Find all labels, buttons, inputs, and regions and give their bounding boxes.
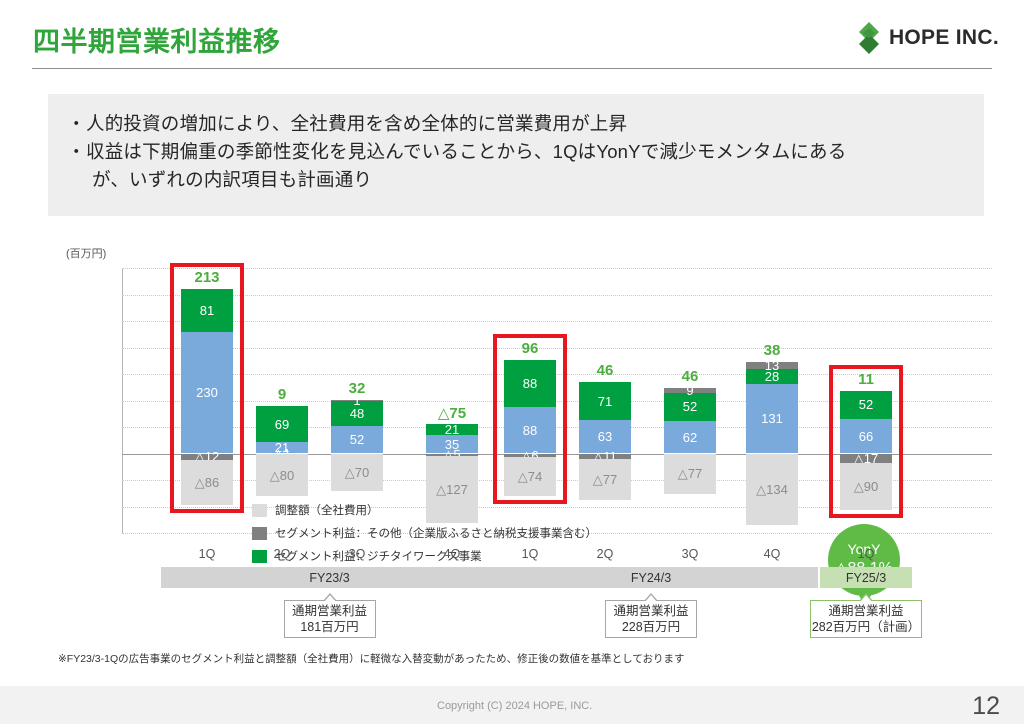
bar-segment-other: △17 (840, 454, 892, 463)
fiscal-year-band-FY25-3: FY25/3 (820, 567, 912, 588)
legend-label: セグメント利益：その他（企業版ふるさと納税支援事業含む） (275, 525, 597, 541)
bar-group[interactable]: 52481△7032 (331, 268, 383, 533)
bar-segment-label: 66 (859, 430, 873, 443)
message-line-2: 収益は下期偏重の季節性変化を見込んでいることから、1QはYonYで減少モメンタム… (70, 138, 962, 166)
bar-segment-label: △77 (678, 467, 702, 480)
bar-segment-other: 13 (746, 362, 798, 369)
bar-segment-advertising: 88 (504, 407, 556, 454)
y-axis-unit-label: (百万円) (66, 245, 106, 261)
bar-total-label: 46 (664, 368, 716, 385)
bar-total-label: 213 (181, 269, 233, 286)
x-axis-label: 4Q (426, 547, 478, 561)
callout-pointer (859, 593, 873, 601)
x-axis-label: 1Q (181, 547, 233, 561)
bar-segment-label: 62 (683, 431, 697, 444)
fiscal-year-band-FY24-3: FY24/3 (484, 567, 818, 588)
bar-total-label: 46 (579, 362, 631, 379)
message-line-3: が、いずれの内訳項目も計画通り (70, 166, 962, 194)
bar-segment-jichitai: 21 (426, 424, 478, 435)
bar-segment-label: 230 (196, 386, 218, 399)
legend-swatch-adjustment-icon (252, 504, 267, 517)
x-axis-label: 2Q (256, 547, 308, 561)
bar-segment-jichitai: 69 (256, 406, 308, 443)
slide-header: 四半期営業利益推移 HOPE INC. (0, 0, 1024, 72)
bar-segment-label: 9 (686, 384, 693, 397)
bar-segment-adjustment: △70 (331, 454, 383, 491)
callout-line-1: 通期営業利益 (613, 603, 688, 619)
bar-segment-label: △77 (593, 473, 617, 486)
page-title: 四半期営業利益推移 (33, 20, 281, 59)
summary-message-box: 人的投資の増加により、全社費用を含め全体的に営業費用が上昇 収益は下期偏重の季節… (48, 94, 984, 216)
bar-segment-label: 81 (200, 304, 214, 317)
page-number: 12 (972, 692, 1000, 721)
bar-total-label: 38 (746, 342, 798, 359)
bar-total-label: 9 (256, 386, 308, 403)
bar-group[interactable]: 8888△6△7496 (504, 268, 556, 533)
bar-group[interactable]: 6371△11△7746 (579, 268, 631, 533)
chart-plot-area: 350300250200150100500△50△100△150 23081△1… (122, 268, 992, 533)
logo-text: HOPE INC. (889, 26, 999, 50)
callout-line-2: 282百万円（計画） (812, 619, 920, 635)
bar-segment-label: 88 (523, 424, 537, 437)
bar-segment-label: 52 (859, 398, 873, 411)
bar-segment-jichitai: 81 (181, 289, 233, 332)
bar-segment-other: 1 (331, 400, 383, 401)
annual-profit-callout: 通期営業利益181百万円 (284, 600, 376, 638)
x-axis-label: 2Q (579, 547, 631, 561)
hope-diamond-logo-icon (856, 22, 882, 54)
message-line-1: 人的投資の増加により、全社費用を含め全体的に営業費用が上昇 (70, 110, 962, 138)
bar-segment-label: △127 (436, 483, 468, 496)
callout-line-1: 通期営業利益 (292, 603, 367, 619)
bar-segment-adjustment: △90 (840, 463, 892, 511)
bar-segment-adjustment: △86 (181, 460, 233, 506)
bar-segment-label: 71 (598, 395, 612, 408)
bar-group[interactable]: 6652△17△9011 (840, 268, 892, 533)
bar-group[interactable]: 23081△12△86213 (181, 268, 233, 533)
annual-profit-callout: 通期営業利益228百万円 (605, 600, 697, 638)
bar-segment-adjustment: △74 (504, 457, 556, 496)
x-axis-label: 3Q (331, 547, 383, 561)
bar-segment-label: 52 (350, 433, 364, 446)
bar-group[interactable]: 62529△7746 (664, 268, 716, 533)
bar-segment-advertising: 62 (664, 421, 716, 454)
bar-segment-adjustment: △80 (256, 454, 308, 496)
callout-line-1: 通期営業利益 (828, 603, 903, 619)
bar-group[interactable]: 2169△1△809 (256, 268, 308, 533)
bar-segment-advertising: 66 (840, 419, 892, 454)
bar-segment-label: △134 (756, 483, 788, 496)
bar-segment-advertising: 230 (181, 332, 233, 454)
bar-segment-label: 21 (445, 423, 459, 436)
bar-segment-adjustment: △134 (746, 454, 798, 525)
bar-segment-advertising: 131 (746, 384, 798, 453)
bar-segment-label: 13 (765, 359, 779, 372)
bar-total-label: 32 (331, 380, 383, 397)
company-logo: HOPE INC. (856, 22, 999, 54)
bar-segment-label: △86 (195, 476, 219, 489)
footnote: ※FY23/3-1Qの広告事業のセグメント利益と調整額（全社費用）に軽微な入替変… (58, 651, 685, 666)
bar-segment-label: 63 (598, 430, 612, 443)
bar-total-label: △75 (426, 404, 478, 422)
bar-segment-label: △70 (345, 466, 369, 479)
x-axis-label: 4Q (746, 547, 798, 561)
bar-segment-jichitai: 71 (579, 382, 631, 420)
callout-line-2: 181百万円 (300, 619, 358, 635)
bar-group[interactable]: 3521△5△127△75 (426, 268, 478, 533)
title-divider (32, 68, 992, 69)
bar-group[interactable]: 1312813△13438 (746, 268, 798, 533)
bar-segment-other: 9 (664, 388, 716, 393)
bar-segment-label: 48 (350, 407, 364, 420)
x-axis-label: 1Q (840, 547, 892, 561)
bar-segment-label: △80 (270, 469, 294, 482)
bar-segment-label: 88 (523, 377, 537, 390)
bar-segment-adjustment: △77 (579, 459, 631, 500)
x-axis-label: 1Q (504, 547, 556, 561)
legend-label: 調整額（全社費用） (275, 502, 379, 518)
bar-segment-advertising: 52 (331, 426, 383, 454)
bar-segment-label: 131 (761, 412, 783, 425)
bar-segment-adjustment: △77 (664, 454, 716, 495)
copyright-text: Copyright (C) 2024 HOPE, INC. (437, 700, 592, 712)
quarterly-operating-profit-chart: (百万円) 350300250200150100500△50△100△150 2… (0, 240, 1024, 570)
bar-segment-jichitai: 88 (504, 360, 556, 407)
legend-item-adjustment[interactable]: 調整額（全社費用） (252, 502, 597, 518)
callout-line-2: 228百万円 (622, 619, 680, 635)
x-axis-label: 3Q (664, 547, 716, 561)
bar-segment-label: 69 (275, 418, 289, 431)
bar-total-label: 96 (504, 340, 556, 357)
fiscal-year-band-FY23-3: FY23/3 (161, 567, 498, 588)
annual-profit-callout: 通期営業利益282百万円（計画） (810, 600, 922, 638)
bar-segment-label: △90 (854, 480, 878, 493)
callout-pointer (323, 593, 337, 601)
bar-segment-label: △74 (518, 470, 542, 483)
legend-swatch-other-icon (252, 527, 267, 540)
bar-segment-label: 52 (683, 400, 697, 413)
callout-pointer (644, 593, 658, 601)
bar-segment-jichitai: 52 (840, 391, 892, 419)
legend-item-other[interactable]: セグメント利益：その他（企業版ふるさと納税支援事業含む） (252, 525, 597, 541)
bar-total-label: 11 (840, 371, 892, 388)
